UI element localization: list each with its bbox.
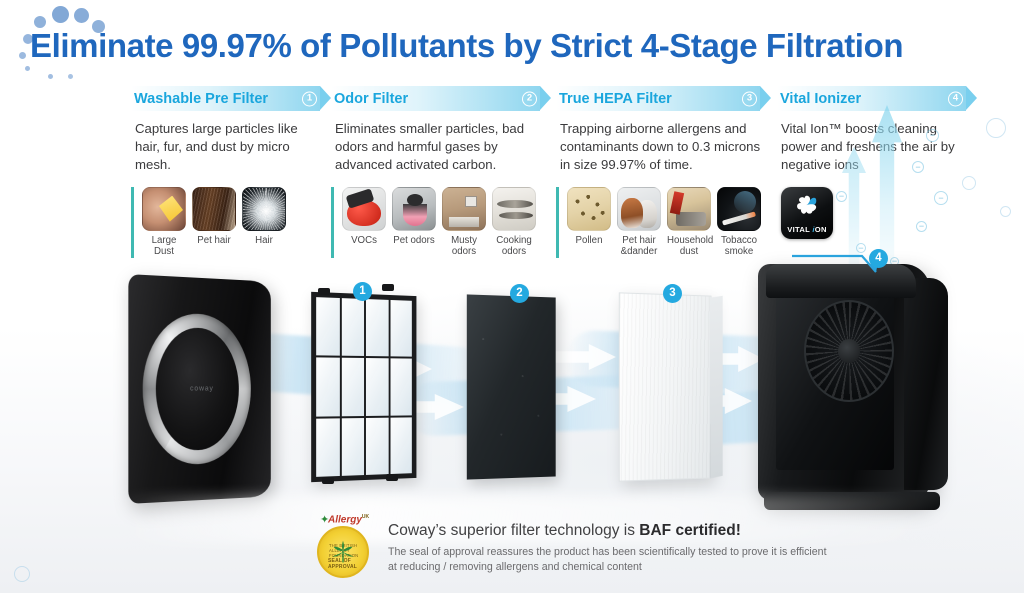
allergy-uk-seal-icon: ✦ AllergyUK THE BRITISH ALLERGY FOUNDATI…	[314, 514, 376, 578]
certification-banner: ✦ AllergyUK THE BRITISH ALLERGY FOUNDATI…	[314, 514, 834, 588]
main-unit-body	[758, 264, 948, 504]
pre-filter-clip	[386, 474, 398, 481]
thumbnail-caption: Musty odors	[442, 235, 486, 258]
certification-subtext: The seal of approval reassures the produ…	[388, 545, 834, 576]
thumbnail-item: Pet hair	[192, 187, 236, 258]
diagram-callout-2: 2	[510, 284, 529, 303]
decorative-bubble	[986, 118, 1006, 138]
vital-ion-fan-icon	[794, 192, 820, 218]
thumbnail-item: Household dust	[667, 187, 711, 258]
stage-thumbnails-3: Pollen Pet hair &dander Household dust T…	[556, 187, 771, 258]
infographic-page: Eliminate 99.97% of Pollutants by Strict…	[0, 0, 1024, 593]
vocs-icon	[342, 187, 386, 231]
pre-filter-mesh	[311, 292, 416, 482]
seal-brand: AllergyUK	[328, 514, 369, 525]
stage-number-badge-1: 1	[302, 91, 317, 106]
decorative-bubble	[962, 176, 976, 190]
stage-ribbon-3: True HEPA Filter 3	[556, 86, 771, 111]
thumbnail-caption: Household dust	[667, 235, 711, 258]
ribbon-chevron-icon	[540, 86, 551, 110]
stage-column-2: Odor Filter 2 Eliminates smaller particl…	[331, 86, 551, 258]
pre-filter-clip	[318, 288, 330, 295]
thumbnail-caption: Pet hair	[192, 235, 236, 247]
stage-number-badge-2: 2	[522, 91, 537, 106]
musty-odors-icon	[442, 187, 486, 231]
thumbnail-item: Pollen	[567, 187, 611, 258]
thumbnail-item: Large Dust	[142, 187, 186, 258]
unit-side-panel	[904, 278, 948, 490]
seal-bottom-text: SEAL OF APPROVAL	[328, 558, 367, 570]
decorative-bubble	[14, 566, 30, 582]
thumbnail-item: Cooking odors	[492, 187, 536, 258]
stage-title-4: Vital Ionizer	[777, 91, 861, 107]
stage-title-1: Washable Pre Filter	[131, 91, 268, 107]
stage-number-badge-4: 4	[948, 91, 963, 106]
ribbon-chevron-icon	[966, 86, 977, 110]
diagram-callout-4: 4	[869, 249, 888, 268]
pet-odors-icon	[392, 187, 436, 231]
stage-column-3: True HEPA Filter 3 Trapping airborne all…	[556, 86, 771, 258]
stage-ribbon-2: Odor Filter 2	[331, 86, 551, 111]
unit-fan-icon	[804, 300, 894, 402]
thumbnail-item: Tobacco smoke	[717, 187, 761, 258]
thumbnail-item: Hair	[242, 187, 286, 258]
pet-hair-icon	[192, 187, 236, 231]
stage-description-1: Captures large particles like hair, fur,…	[131, 120, 331, 175]
page-title: Eliminate 99.97% of Pollutants by Strict…	[30, 27, 903, 65]
vital-ion-badge: VITAL iON	[781, 187, 833, 239]
stage-thumbnails-1: Large Dust Pet hair Hair	[131, 187, 331, 258]
product-exploded-diagram: 1 2 3 coway	[0, 262, 1024, 527]
pre-filter-clip	[322, 477, 334, 484]
thumbnail-caption: Large Dust	[142, 235, 186, 258]
pre-filter-clip	[382, 284, 394, 291]
thumbnail-caption: Pet odors	[392, 235, 436, 247]
hepa-filter-edge	[710, 296, 723, 479]
stage-ribbon-1: Washable Pre Filter 1	[131, 86, 331, 111]
coway-logo: coway	[190, 385, 214, 392]
stage-column-1: Washable Pre Filter 1 Captures large par…	[131, 86, 331, 258]
thumbnail-caption: Cooking odors	[492, 235, 536, 258]
thumbnail-item: Pet odors	[392, 187, 436, 258]
thumbnail-caption: Tobacco smoke	[717, 235, 761, 258]
diagram-callout-1: 1	[353, 282, 372, 301]
unit-base	[764, 492, 940, 510]
vital-ion-label: VITAL iON	[781, 225, 833, 234]
hepa-filter	[619, 292, 712, 481]
decorative-bubble	[1000, 206, 1011, 217]
carbon-filter	[467, 294, 556, 479]
cooking-odors-icon	[492, 187, 536, 231]
ribbon-chevron-icon	[320, 86, 331, 110]
seal-circle: THE BRITISH ALLERGY FOUNDATION SEAL OF A…	[317, 526, 369, 578]
ribbon-chevron-icon	[760, 86, 771, 110]
large-dust-icon	[142, 187, 186, 231]
thumbnail-caption: Hair	[242, 235, 286, 247]
stage-description-4: Vital Ion™ boosts cleaning power and fre…	[777, 120, 977, 175]
thumbnail-caption: Pet hair &dander	[617, 235, 661, 258]
hair-icon	[242, 187, 286, 231]
stage-number-badge-3: 3	[742, 91, 757, 106]
thumbnail-item: Musty odors	[442, 187, 486, 258]
diagram-callout-3: 3	[663, 284, 682, 303]
stage-description-3: Trapping airborne allergens and contamin…	[556, 120, 771, 175]
stage-title-2: Odor Filter	[331, 91, 408, 107]
stage-column-4: Vital Ionizer 4 Vital Ion™ boosts cleani…	[777, 86, 977, 239]
stage-description-2: Eliminates smaller particles, bad odors …	[331, 120, 551, 175]
stage-title-3: True HEPA Filter	[556, 91, 672, 107]
thumbnail-item: VOCs	[342, 187, 386, 258]
front-panel: coway	[128, 274, 270, 504]
pollen-icon	[567, 187, 611, 231]
thumbnail-item: Pet hair &dander	[617, 187, 661, 258]
thumbnail-caption: Pollen	[567, 235, 611, 247]
thumbnail-caption: VOCs	[342, 235, 386, 247]
household-dust-icon	[667, 187, 711, 231]
certification-headline: Coway’s superior filter technology is BA…	[388, 522, 834, 540]
stage-ribbon-4: Vital Ionizer 4	[777, 86, 977, 111]
pet-dander-icon	[617, 187, 661, 231]
tobacco-smoke-icon	[717, 187, 761, 231]
stage-thumbnails-2: VOCs Pet odors Musty odors Cooking odors	[331, 187, 551, 258]
